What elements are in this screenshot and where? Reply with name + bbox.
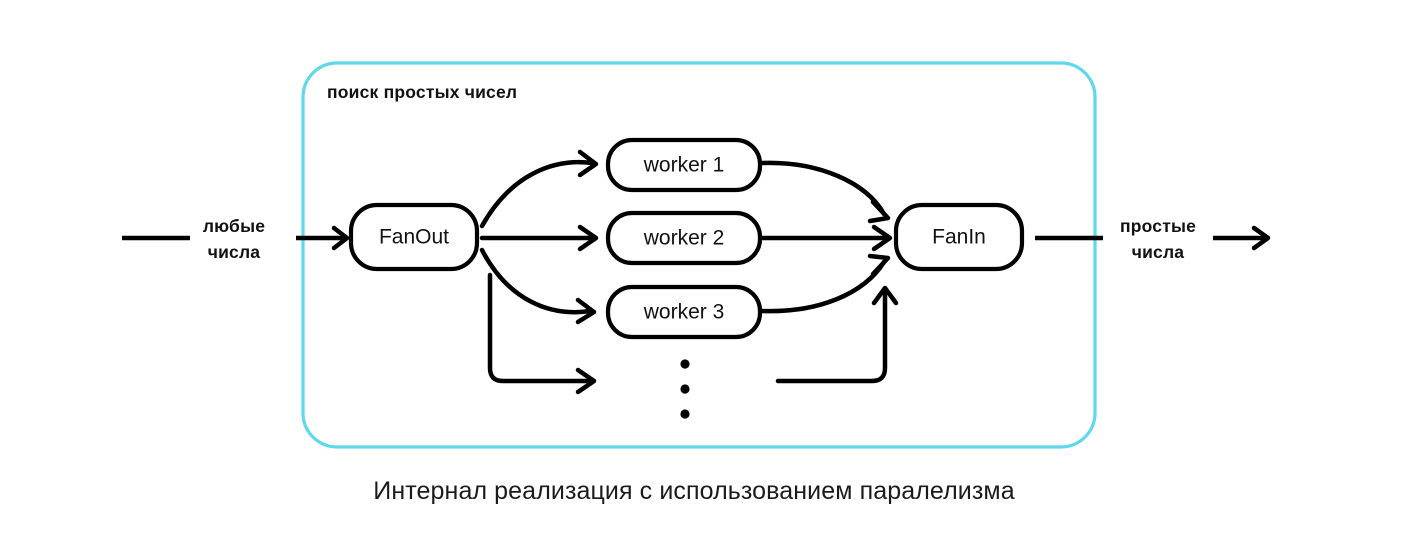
edge-fanout-to-worker1 xyxy=(482,162,592,226)
edge-worker3-to-fanin xyxy=(762,262,884,311)
ellipsis-vertical-icon xyxy=(680,359,689,418)
diagram-canvas: поиск простых чисел любые числа FanOut w… xyxy=(0,0,1402,554)
edge-fanout-to-more-workers xyxy=(490,275,590,381)
node-fanin-label: FanIn xyxy=(932,226,986,249)
node-worker1-label: worker 1 xyxy=(643,154,725,177)
node-worker3-label: worker 3 xyxy=(643,301,725,324)
output-label-line1: простые xyxy=(1120,216,1196,236)
diagram-caption: Интернал реализация с использованием пар… xyxy=(373,477,1014,505)
diagram-svg: поиск простых чисел любые числа FanOut w… xyxy=(0,0,1402,554)
input-label-line2: числа xyxy=(208,242,261,262)
node-worker2-label: worker 2 xyxy=(643,227,725,250)
input-label-line1: любые xyxy=(203,216,265,236)
node-fanout-label: FanOut xyxy=(379,226,449,249)
output-label-line2: числа xyxy=(1132,242,1185,262)
edge-more-workers-to-fanin xyxy=(778,292,885,381)
edge-fanout-to-worker3 xyxy=(482,250,590,312)
group-label: поиск простых чисел xyxy=(327,82,517,102)
edge-worker1-to-fanin xyxy=(762,163,884,214)
